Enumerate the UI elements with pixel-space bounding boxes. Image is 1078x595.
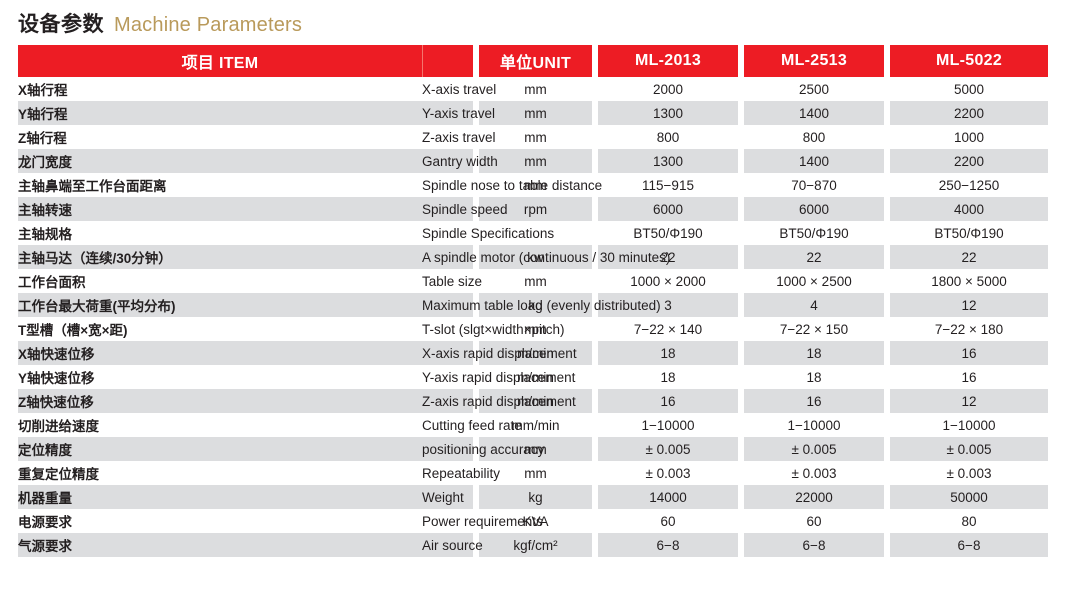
row-value-model-3: 16 bbox=[890, 341, 1048, 365]
row-label-cn: 主轴规格 bbox=[18, 221, 422, 245]
page-title-cn: 设备参数 bbox=[18, 8, 104, 38]
row-label-cn: 工作台面积 bbox=[18, 269, 422, 293]
row-value-model-3: ± 0.003 bbox=[890, 461, 1048, 485]
row-value-model-2: ± 0.003 bbox=[744, 461, 884, 485]
row-label-en: Y-axis rapid displacement bbox=[422, 365, 473, 389]
row-value-model-3: 12 bbox=[890, 389, 1048, 413]
row-value-model-2: 22000 bbox=[744, 485, 884, 509]
table-row: 气源要求Air sourcekgf/cm²6−86−86−8 bbox=[18, 533, 1048, 557]
row-value-model-3: 22 bbox=[890, 245, 1048, 269]
table-row: Y轴快速位移Y-axis rapid displacementm/min1818… bbox=[18, 365, 1048, 389]
row-value-model-3: 1000 bbox=[890, 125, 1048, 149]
table-row: 切削进给速度Cutting feed ratemm/min1−100001−10… bbox=[18, 413, 1048, 437]
row-value-model-3: 80 bbox=[890, 509, 1048, 533]
row-label-en: X-axis rapid displacement bbox=[422, 341, 473, 365]
row-unit: mm bbox=[479, 101, 592, 125]
row-value-model-3: 5000 bbox=[890, 77, 1048, 101]
row-value-model-2: 18 bbox=[744, 341, 884, 365]
row-label-cn: 气源要求 bbox=[18, 533, 422, 557]
row-label-cn: 主轴鼻端至工作台面距离 bbox=[18, 173, 422, 197]
table-row: 电源要求Power requirementsKVA606080 bbox=[18, 509, 1048, 533]
row-label-cn: Y轴快速位移 bbox=[18, 365, 422, 389]
row-value-model-2: 1−10000 bbox=[744, 413, 884, 437]
table-row: 重复定位精度Repeatabilitymm± 0.003± 0.003± 0.0… bbox=[18, 461, 1048, 485]
table-row: 机器重量Weightkg140002200050000 bbox=[18, 485, 1048, 509]
row-value-model-2: 22 bbox=[744, 245, 884, 269]
row-label-cn: 工作台最大荷重(平均分布) bbox=[18, 293, 422, 317]
row-value-model-1: ± 0.003 bbox=[598, 461, 738, 485]
row-label-cn: Z轴行程 bbox=[18, 125, 422, 149]
row-label-cn: 重复定位精度 bbox=[18, 461, 422, 485]
row-value-model-3: BT50/Φ190 bbox=[890, 221, 1048, 245]
row-value-model-2: 16 bbox=[744, 389, 884, 413]
row-value-model-1: 1300 bbox=[598, 101, 738, 125]
row-label-en: Power requirements bbox=[422, 509, 473, 533]
row-label-cn: 机器重量 bbox=[18, 485, 422, 509]
row-value-model-3: 250−1250 bbox=[890, 173, 1048, 197]
row-value-model-2: 1400 bbox=[744, 149, 884, 173]
row-value-model-1: BT50/Φ190 bbox=[598, 221, 738, 245]
row-value-model-1: 16 bbox=[598, 389, 738, 413]
table-row: 主轴规格Spindle SpecificationsBT50/Φ190BT50/… bbox=[18, 221, 1048, 245]
table-row: Z轴行程Z-axis travelmm8008001000 bbox=[18, 125, 1048, 149]
page-title: 设备参数 Machine Parameters bbox=[18, 8, 302, 38]
row-label-cn: Z轴快速位移 bbox=[18, 389, 422, 413]
row-label-cn: 龙门宽度 bbox=[18, 149, 422, 173]
row-value-model-3: ± 0.005 bbox=[890, 437, 1048, 461]
table-row: 工作台最大荷重(平均分布)Maximum table load (evenly … bbox=[18, 293, 1048, 317]
row-value-model-1: 1300 bbox=[598, 149, 738, 173]
row-unit: mm bbox=[479, 269, 592, 293]
row-label-en: Repeatability bbox=[422, 461, 473, 485]
row-value-model-3: 12 bbox=[890, 293, 1048, 317]
row-value-model-2: 7−22 × 150 bbox=[744, 317, 884, 341]
row-label-cn: 电源要求 bbox=[18, 509, 422, 533]
row-unit: mm bbox=[479, 125, 592, 149]
row-label-en: T-slot (slgt×width×pitch) bbox=[422, 317, 473, 341]
row-value-model-2: 6000 bbox=[744, 197, 884, 221]
row-value-model-3: 1−10000 bbox=[890, 413, 1048, 437]
row-value-model-1: 6000 bbox=[598, 197, 738, 221]
row-label-en: Z-axis travel bbox=[422, 125, 473, 149]
table-row: 主轴马达（连续/30分钟）A spindle motor (continuous… bbox=[18, 245, 1048, 269]
table-body: X轴行程X-axis travelmm200025005000Y轴行程Y-axi… bbox=[18, 77, 1048, 557]
row-label-cn: 切削进给速度 bbox=[18, 413, 422, 437]
row-label-en: Air source bbox=[422, 533, 473, 557]
row-value-model-1: 14000 bbox=[598, 485, 738, 509]
table-row: X轴快速位移X-axis rapid displacementm/min1818… bbox=[18, 341, 1048, 365]
row-label-cn: 主轴转速 bbox=[18, 197, 422, 221]
row-label-en: Weight bbox=[422, 485, 473, 509]
row-label-cn: Y轴行程 bbox=[18, 101, 422, 125]
row-value-model-2: 18 bbox=[744, 365, 884, 389]
row-label-en: Maximum table load (evenly distributed) bbox=[422, 293, 473, 317]
row-value-model-2: 2500 bbox=[744, 77, 884, 101]
row-value-model-2: 1400 bbox=[744, 101, 884, 125]
table-row: Z轴快速位移Z-axis rapid displacementm/min1616… bbox=[18, 389, 1048, 413]
table-row: 工作台面积Table sizemm1000 × 20001000 × 25001… bbox=[18, 269, 1048, 293]
row-value-model-1: 800 bbox=[598, 125, 738, 149]
row-value-model-3: 16 bbox=[890, 365, 1048, 389]
row-value-model-2: 6−8 bbox=[744, 533, 884, 557]
table-row: 定位精度positioning accuracymm± 0.005± 0.005… bbox=[18, 437, 1048, 461]
row-label-cn: X轴快速位移 bbox=[18, 341, 422, 365]
table-row: 主轴鼻端至工作台面距离Spindle nose to table distanc… bbox=[18, 173, 1048, 197]
row-label-cn: 定位精度 bbox=[18, 437, 422, 461]
row-value-model-1: 2000 bbox=[598, 77, 738, 101]
row-value-model-1: ± 0.005 bbox=[598, 437, 738, 461]
table-row: Y轴行程Y-axis travelmm130014002200 bbox=[18, 101, 1048, 125]
row-value-model-1: 18 bbox=[598, 341, 738, 365]
row-value-model-1: 7−22 × 140 bbox=[598, 317, 738, 341]
machine-parameters-table: 项目 ITEM 单位UNIT ML-2013 ML-2513 ML-5022 X… bbox=[18, 45, 1048, 557]
row-value-model-1: 115−915 bbox=[598, 173, 738, 197]
header-cell-model-1: ML-2013 bbox=[598, 45, 738, 77]
row-label-en: Cutting feed rate bbox=[422, 413, 473, 437]
row-label-en: A spindle motor (continuous / 30 minutes… bbox=[422, 245, 473, 269]
row-label-cn: 主轴马达（连续/30分钟） bbox=[18, 245, 422, 269]
header-cell-unit: 单位UNIT bbox=[479, 45, 592, 77]
row-value-model-1: 1−10000 bbox=[598, 413, 738, 437]
row-label-en: positioning accuracy bbox=[422, 437, 473, 461]
table-header-row: 项目 ITEM 单位UNIT ML-2013 ML-2513 ML-5022 bbox=[18, 45, 1048, 77]
row-label-cn: T型槽（槽×宽×距) bbox=[18, 317, 422, 341]
row-label-en: Table size bbox=[422, 269, 473, 293]
row-unit: kgf/cm² bbox=[479, 533, 592, 557]
row-value-model-3: 1800 × 5000 bbox=[890, 269, 1048, 293]
header-cell-item: 项目 ITEM bbox=[18, 45, 473, 77]
row-value-model-3: 4000 bbox=[890, 197, 1048, 221]
header-item-label: 项目 ITEM bbox=[182, 49, 259, 73]
table-row: 主轴转速Spindle speedrpm600060004000 bbox=[18, 197, 1048, 221]
row-label-en: Z-axis rapid displacement bbox=[422, 389, 473, 413]
row-label-en: Y-axis travel bbox=[422, 101, 473, 125]
table-row: T型槽（槽×宽×距)T-slot (slgt×width×pitch)mm7−2… bbox=[18, 317, 1048, 341]
row-value-model-2: 4 bbox=[744, 293, 884, 317]
table-row: 龙门宽度Gantry widthmm130014002200 bbox=[18, 149, 1048, 173]
row-value-model-2: 70−870 bbox=[744, 173, 884, 197]
row-value-model-1: 60 bbox=[598, 509, 738, 533]
table-row: X轴行程X-axis travelmm200025005000 bbox=[18, 77, 1048, 101]
row-value-model-2: 60 bbox=[744, 509, 884, 533]
row-label-en: Spindle speed bbox=[422, 197, 473, 221]
row-value-model-1: 1000 × 2000 bbox=[598, 269, 738, 293]
row-value-model-2: ± 0.005 bbox=[744, 437, 884, 461]
page-title-en: Machine Parameters bbox=[114, 14, 302, 37]
header-cell-model-3: ML-5022 bbox=[890, 45, 1048, 77]
row-label-en: X-axis travel bbox=[422, 77, 473, 101]
row-value-model-1: 6−8 bbox=[598, 533, 738, 557]
row-label-en: Spindle Specifications bbox=[422, 221, 473, 245]
row-label-en: Spindle nose to table distance bbox=[422, 173, 473, 197]
row-label-en: Gantry width bbox=[422, 149, 473, 173]
row-value-model-3: 7−22 × 180 bbox=[890, 317, 1048, 341]
row-value-model-3: 6−8 bbox=[890, 533, 1048, 557]
row-value-model-3: 2200 bbox=[890, 149, 1048, 173]
row-value-model-2: BT50/Φ190 bbox=[744, 221, 884, 245]
header-cell-model-2: ML-2513 bbox=[744, 45, 884, 77]
row-label-cn: X轴行程 bbox=[18, 77, 422, 101]
row-value-model-2: 800 bbox=[744, 125, 884, 149]
row-value-model-3: 50000 bbox=[890, 485, 1048, 509]
row-value-model-2: 1000 × 2500 bbox=[744, 269, 884, 293]
row-value-model-1: 18 bbox=[598, 365, 738, 389]
row-unit: kg bbox=[479, 485, 592, 509]
machine-parameters-page: 设备参数 Machine Parameters 项目 ITEM bbox=[0, 0, 1078, 595]
row-value-model-3: 2200 bbox=[890, 101, 1048, 125]
